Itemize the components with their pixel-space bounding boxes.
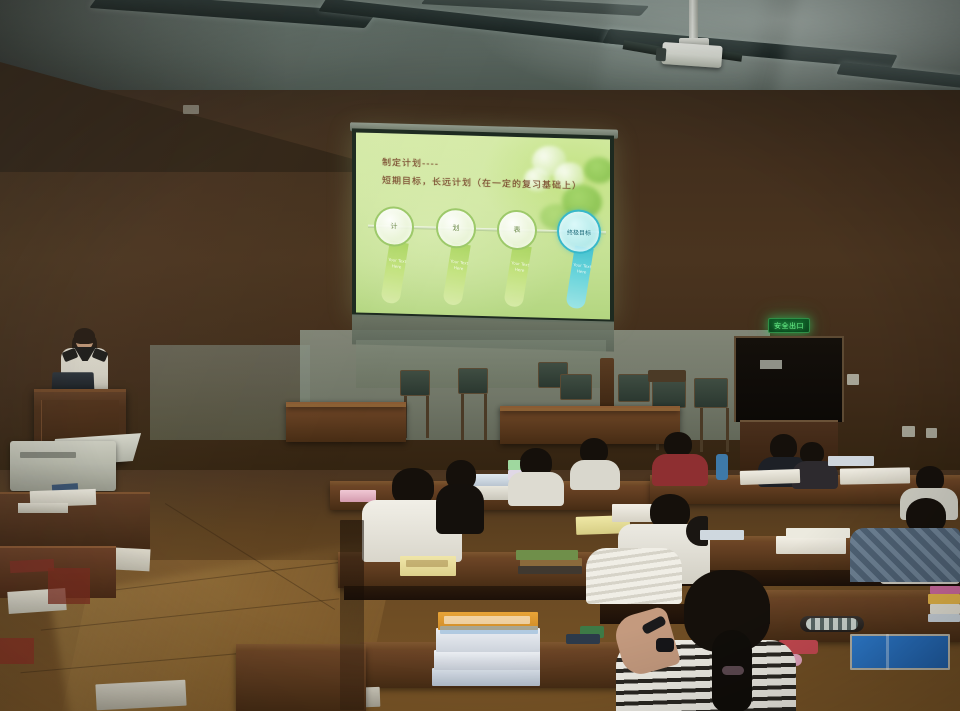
open-book [740, 469, 800, 485]
student-torso-checkered [850, 528, 960, 582]
slide-text-block: 制定计划---- 短期目标，长远计划（在一定的复习基础上） [382, 155, 602, 192]
blue-water-bottle [716, 454, 728, 480]
chair[interactable] [652, 380, 686, 408]
hair-tie [722, 666, 744, 675]
book [518, 566, 582, 574]
wall-switch[interactable] [847, 374, 859, 385]
wall-emergency-light [183, 105, 199, 114]
book-stack [776, 536, 846, 554]
projector-pole [689, 0, 698, 42]
book [700, 530, 744, 540]
slide-node-tail: Your Text Here [380, 240, 408, 304]
projector-lens-icon [656, 48, 667, 62]
book [516, 550, 578, 560]
student-torso [508, 472, 564, 506]
projection-screen-frame: 制定计划---- 短期目标，长远计划（在一定的复习基础上） Your Text … [352, 128, 614, 323]
wall-switch[interactable] [926, 428, 937, 438]
front-table-right-top [500, 406, 680, 411]
chair[interactable] [458, 368, 488, 394]
book [828, 456, 874, 466]
book [928, 614, 960, 622]
desk-row-c-right-top [736, 590, 960, 598]
slide-line-2: 短期目标，长远计划（在一定的复习基础上） [382, 173, 602, 192]
slide-node-1: 计 [374, 206, 414, 247]
chair-top-rail [648, 370, 686, 382]
emergency-exit-sign: 安全出口 [768, 318, 810, 333]
projection-screen: 制定计划---- 短期目标，长远计划（在一定的复习基础上） Your Text … [356, 132, 610, 319]
slide-node-tail: Your Text Here [503, 244, 531, 308]
slide-node-4-final-goal: 终极目标 [557, 209, 601, 254]
door-sign-plate [760, 360, 782, 369]
chair[interactable] [560, 374, 592, 400]
printer-output-slot [20, 452, 76, 458]
folder-crease [886, 634, 889, 670]
small-item [566, 634, 600, 644]
front-table [286, 404, 406, 442]
book-title-band [444, 616, 530, 624]
book-stack [434, 650, 540, 670]
slide-node-tail-label: Your Text Here [449, 258, 469, 272]
chair[interactable] [400, 370, 430, 396]
slide-node-tail: Your Text Here [442, 242, 470, 306]
projector-icon [661, 42, 722, 68]
aisle-shadow [340, 520, 364, 710]
book [930, 604, 960, 614]
front-table-top [286, 402, 406, 407]
student-torso-red [652, 454, 708, 486]
book-stack [786, 528, 850, 538]
slide-node-tail: Your Text Here [565, 245, 593, 309]
slide-node-3-label: 表 [514, 225, 521, 235]
slide-line-1: 制定计划---- [382, 155, 602, 174]
blue-folder [850, 634, 950, 670]
paper-sheet [95, 680, 186, 711]
student-torso [586, 548, 682, 604]
watch [656, 638, 674, 652]
chair-leg [484, 394, 487, 440]
doorway[interactable] [734, 336, 844, 422]
chair-leg [426, 396, 429, 438]
slide-node-tail-label: Your Text Here [510, 260, 530, 274]
book [930, 586, 960, 594]
chair[interactable] [618, 374, 650, 402]
slide-node-4-label: 终极目标 [567, 227, 591, 237]
exit-sign-label: 安全出口 [774, 321, 804, 331]
chair-leg [700, 408, 703, 452]
paper-stack [18, 503, 68, 513]
slide-node-tail-label: Your Text Here [572, 262, 592, 276]
student-hair-long [436, 484, 484, 534]
wall-switch[interactable] [902, 426, 915, 437]
chair-leg [461, 394, 464, 440]
book [928, 594, 960, 604]
red-chair[interactable] [0, 638, 34, 664]
slide-node-2: 划 [436, 208, 476, 249]
chair-leg [726, 408, 729, 452]
notebook-title-band [406, 560, 448, 567]
chair[interactable] [694, 378, 728, 408]
slide-node-3: 表 [497, 209, 537, 250]
slide-node-2-label: 划 [453, 223, 460, 233]
red-chair[interactable] [48, 568, 90, 604]
book-stack [432, 668, 540, 686]
pencil-case-stripes [806, 618, 858, 630]
presenter-hair [74, 328, 95, 344]
slide-node-tail-label: Your Text Here [387, 257, 407, 271]
student-torso [570, 460, 620, 490]
book-cover-band [440, 626, 538, 634]
slide-node-1-label: 计 [391, 221, 398, 231]
lecture-hall-photo: 制定计划---- 短期目标，长远计划（在一定的复习基础上） Your Text … [0, 0, 960, 711]
open-book [840, 467, 910, 484]
